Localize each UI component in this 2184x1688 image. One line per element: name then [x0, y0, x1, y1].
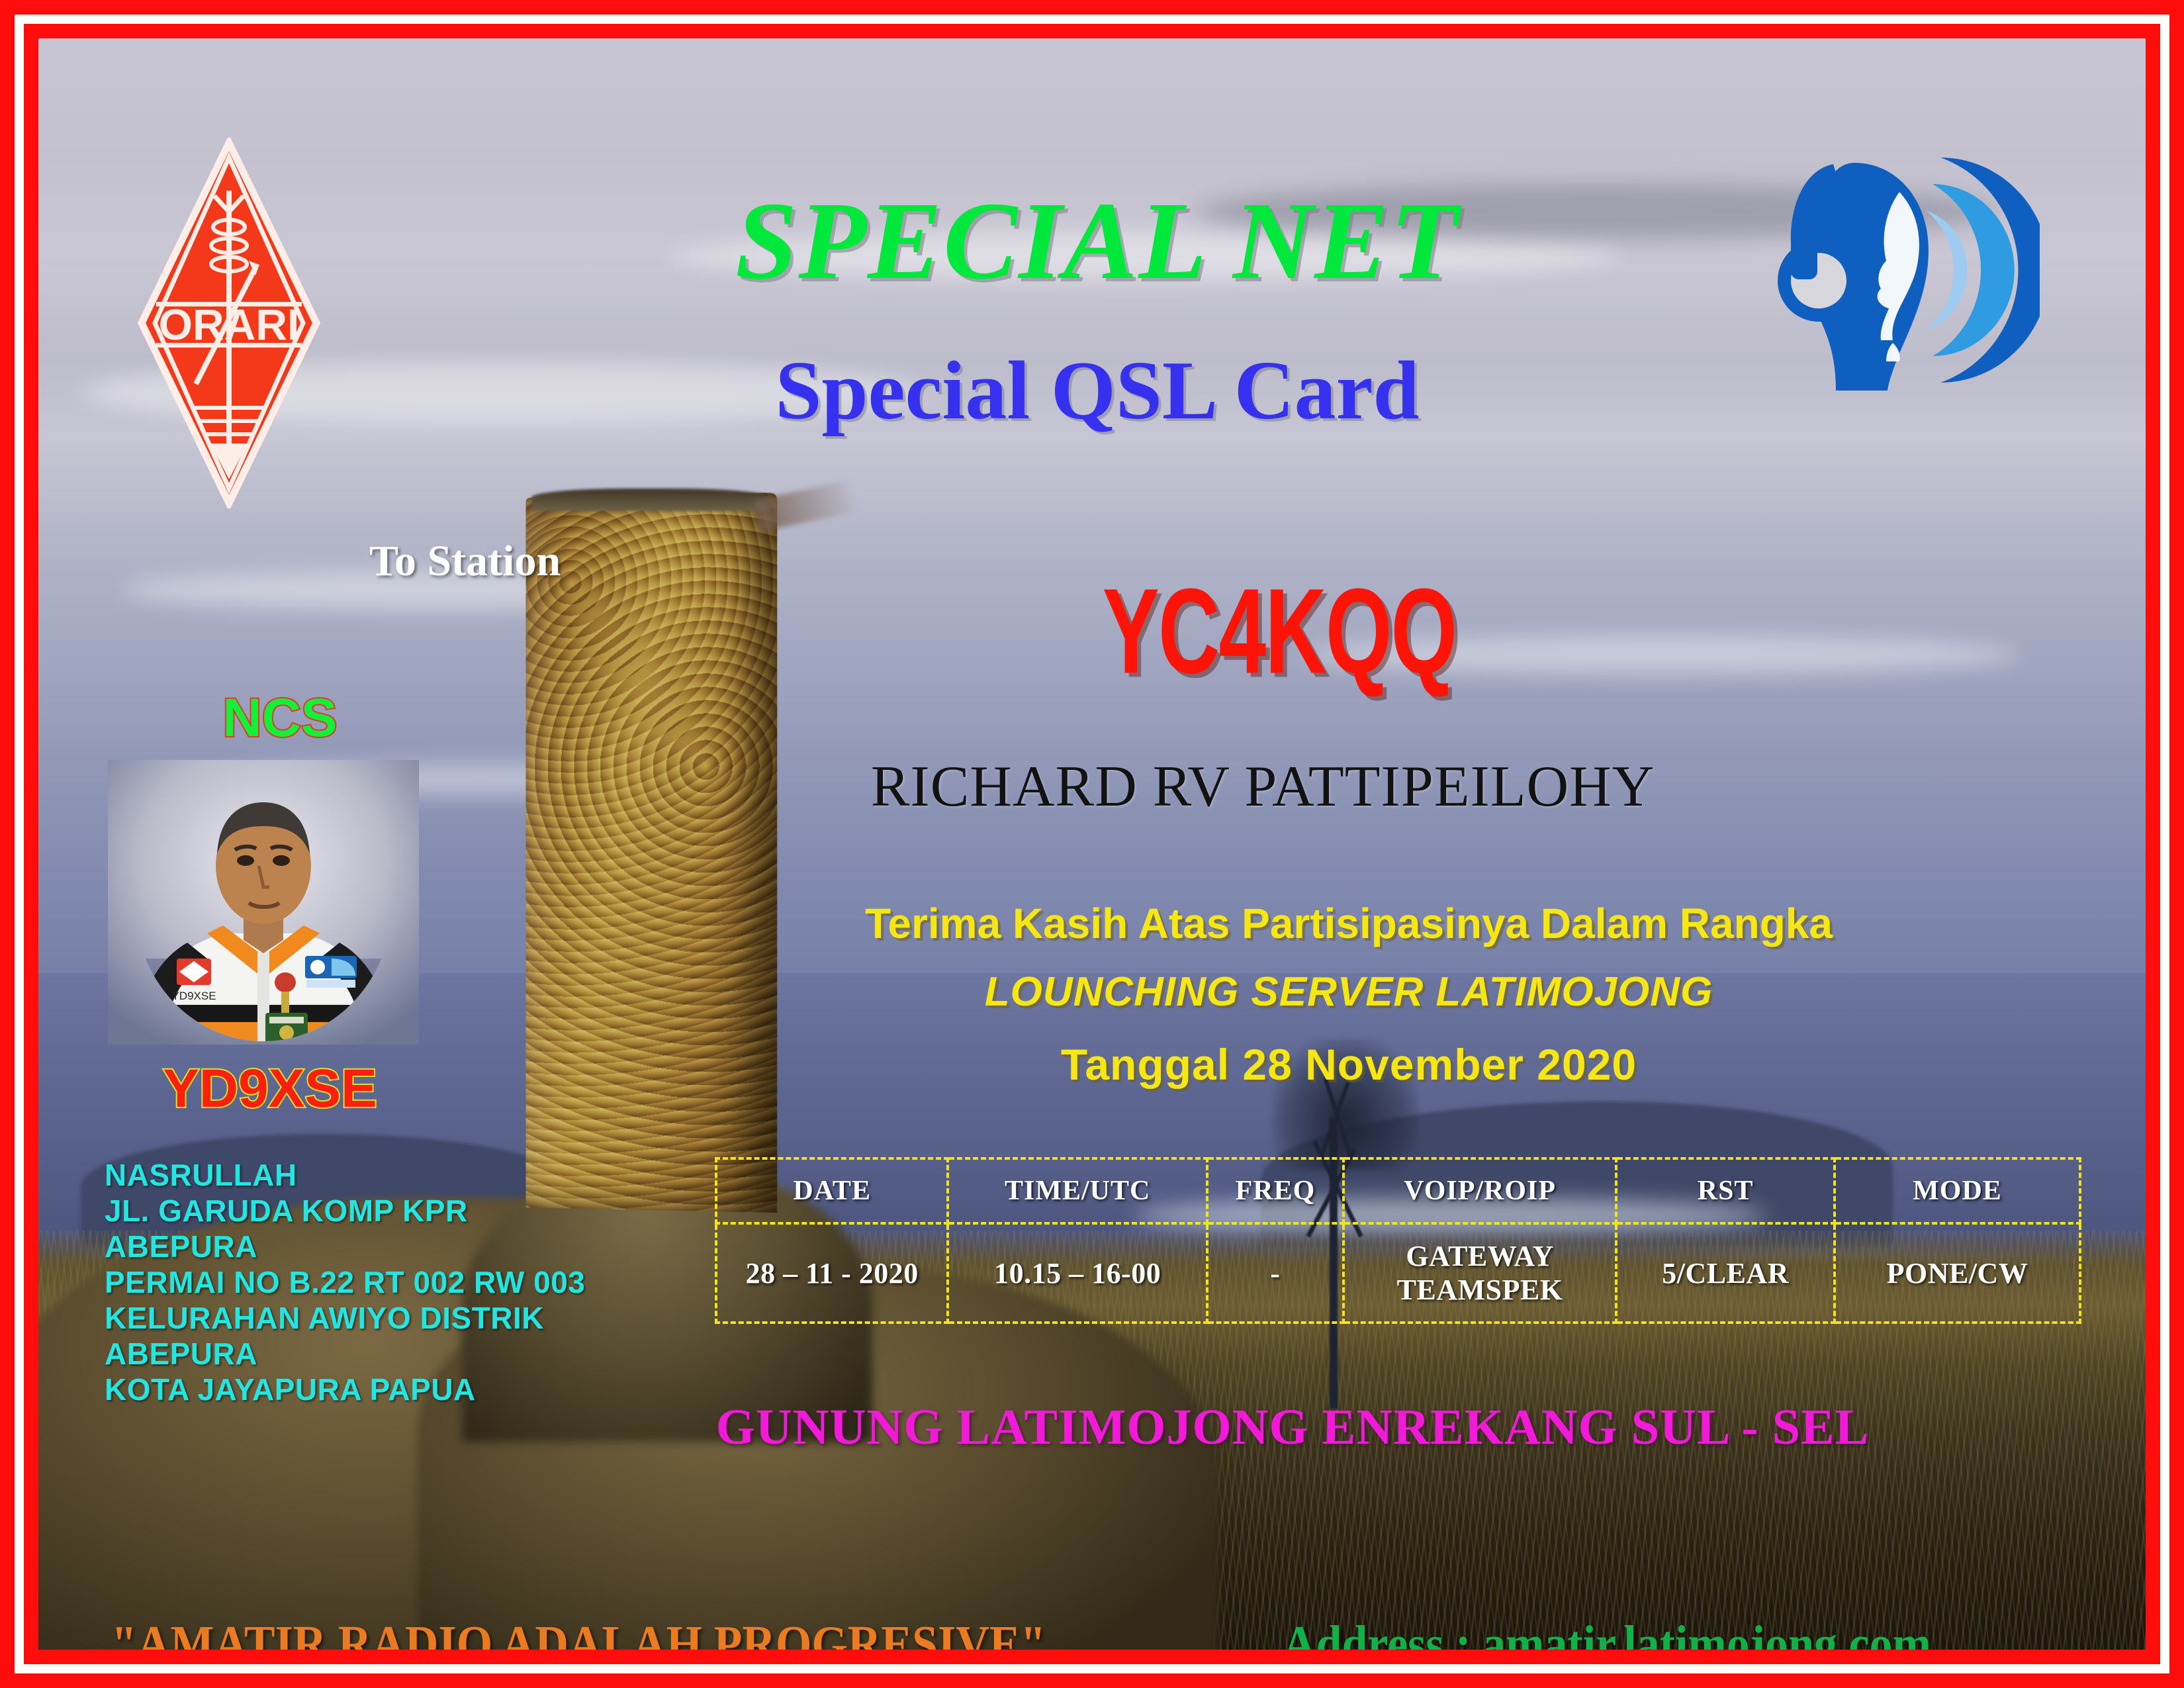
address-line: PERMAI NO B.22 RT 002 RW 003: [105, 1264, 634, 1300]
card-inner-red-border: ORARI: [24, 24, 2160, 1664]
ncs-callsign: YD9XSE: [105, 1058, 435, 1120]
cell-date: 28 – 11 - 2020: [716, 1223, 948, 1323]
page-title-special-net: SPECIAL NET: [495, 185, 1700, 297]
thanks-line: Terima Kasih Atas Partisipasinya Dalam R…: [720, 899, 1978, 948]
orari-logo-text: ORARI: [159, 300, 300, 349]
radio-logo-svg: [1775, 138, 2040, 402]
qsl-card: ORARI: [0, 0, 2184, 1688]
cell-mode: PONE/CW: [1835, 1223, 2080, 1323]
photo-uniform-callsign: YD9XSE: [171, 990, 216, 1002]
address-line: JL. GARUDA KOMP KPR: [105, 1193, 634, 1229]
monument-cap: [531, 489, 770, 511]
cell-time: 10.15 – 16-00: [948, 1223, 1207, 1323]
ncs-role-label: NCS: [141, 687, 419, 749]
column-header-time: TIME/UTC: [948, 1158, 1207, 1223]
event-location: GUNUNG LATIMOJONG ENREKANG SUL - SEL: [581, 1399, 2004, 1456]
page-subtitle-qsl-card: Special QSL Card: [495, 350, 1700, 433]
qso-log-table: DATE TIME/UTC FREQ VOIP/ROIP RST MODE 28…: [715, 1157, 2081, 1324]
address-line: NASRULLAH: [105, 1157, 634, 1193]
column-header-freq: FREQ: [1207, 1158, 1343, 1223]
orari-logo: ORARI: [136, 138, 322, 508]
to-station-label: To Station: [369, 536, 561, 586]
column-header-voip: VOIP/ROIP: [1343, 1158, 1616, 1223]
address-line: KELURAHAN AWIYO DISTRIK: [105, 1300, 634, 1336]
card-photo-background: ORARI: [38, 38, 2146, 1650]
address-line: ABEPURA: [105, 1336, 634, 1372]
column-header-rst: RST: [1616, 1158, 1835, 1223]
stone-monument: [526, 492, 778, 1213]
recipient-operator-name: RICHARD RV PATTIPEILOHY: [634, 753, 1891, 820]
address-line: ABEPURA: [105, 1229, 634, 1264]
club-motto: "AMATIR RADIO ADALAH PROGRESIVE": [111, 1615, 1046, 1650]
event-date-line: Tanggal 28 November 2020: [720, 1039, 1978, 1090]
web-address: Address : amatir.latimojong.com: [1283, 1615, 1931, 1650]
recipient-callsign: YC4KQQ: [839, 561, 1721, 701]
operator-photo-svg: YD9XSE: [108, 760, 419, 1045]
cell-voip: GATEWAY TEAMSPEK: [1343, 1223, 1616, 1323]
column-header-mode: MODE: [1835, 1158, 2080, 1223]
sender-address-block: NASRULLAH JL. GARUDA KOMP KPR ABEPURA PE…: [105, 1157, 634, 1407]
orari-logo-svg: ORARI: [136, 138, 322, 508]
cell-freq: -: [1207, 1223, 1343, 1323]
table-row: 28 – 11 - 2020 10.15 – 16-00 - GATEWAY T…: [716, 1223, 2080, 1323]
column-header-date: DATE: [716, 1158, 948, 1223]
address-line: KOTA JAYAPURA PAPUA: [105, 1372, 634, 1407]
card-white-gap: ORARI: [15, 15, 2169, 1673]
event-line: LOUNCHING SERVER LATIMOJONG: [720, 968, 1978, 1015]
table-header-row: DATE TIME/UTC FREQ VOIP/ROIP RST MODE: [716, 1158, 2080, 1223]
ncs-operator-photo: YD9XSE: [108, 760, 419, 1045]
headset-profile-radio-logo: [1775, 138, 2040, 402]
cell-rst: 5/CLEAR: [1616, 1223, 1835, 1323]
